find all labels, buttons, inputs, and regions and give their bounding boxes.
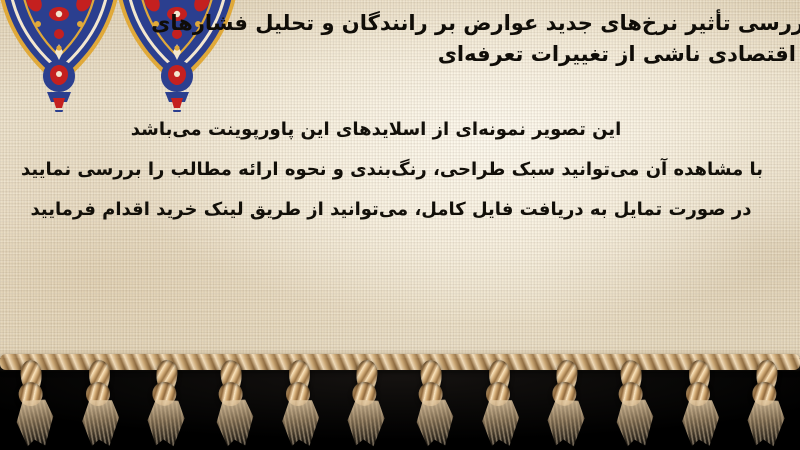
fringe-tassel xyxy=(279,358,323,444)
tassel-strands xyxy=(345,399,387,447)
title-line-2: اقتصادی ناشی از تغییرات تعرفه‌ای xyxy=(0,39,796,70)
fringe-tassel xyxy=(679,358,723,444)
tassel-strands xyxy=(481,400,521,446)
body-line-2: با مشاهده آن می‌توانید سبک طراحی، رنگ‌بن… xyxy=(4,150,794,190)
body-line-3: در صورت تمایل به دریافت فایل کامل، می‌تو… xyxy=(4,190,794,230)
tassel-strands xyxy=(745,399,787,447)
tassel-strands xyxy=(281,400,321,446)
fringe-tassel xyxy=(543,357,591,445)
title-line-1: ررسی تأثیر نرخ‌های جدید عوارض بر رانندگا… xyxy=(0,8,800,39)
fringe-tassel-row xyxy=(0,358,800,450)
tassel-strands xyxy=(614,399,656,447)
fringe-tassel xyxy=(210,357,258,445)
tassel-strands xyxy=(145,399,187,447)
tassel-strands xyxy=(414,399,456,447)
fringe-tassel xyxy=(610,357,658,445)
carpet-bottom-band xyxy=(0,358,800,450)
tassel-strands xyxy=(214,399,256,447)
body-line-1: این تصویر نمونه‌ای از اسلایدهای این پاور… xyxy=(4,110,794,150)
tassel-strands xyxy=(14,399,56,447)
fringe-tassel xyxy=(343,357,391,445)
fringe-tassel xyxy=(410,357,458,445)
slide-canvas: ررسی تأثیر نرخ‌های جدید عوارض بر رانندگا… xyxy=(0,0,800,450)
tassel-strands xyxy=(545,399,587,447)
slide-title: ررسی تأثیر نرخ‌های جدید عوارض بر رانندگا… xyxy=(0,8,796,70)
tassel-strands xyxy=(681,400,721,446)
slide-body: این تصویر نمونه‌ای از اسلایدهای این پاور… xyxy=(4,110,794,230)
fringe-tassel xyxy=(10,357,58,445)
fringe-tassel xyxy=(79,358,123,444)
tassel-strands xyxy=(81,400,121,446)
fringe-tassel xyxy=(479,358,523,444)
fringe-tassel xyxy=(743,357,791,445)
fringe-tassel xyxy=(143,357,191,445)
